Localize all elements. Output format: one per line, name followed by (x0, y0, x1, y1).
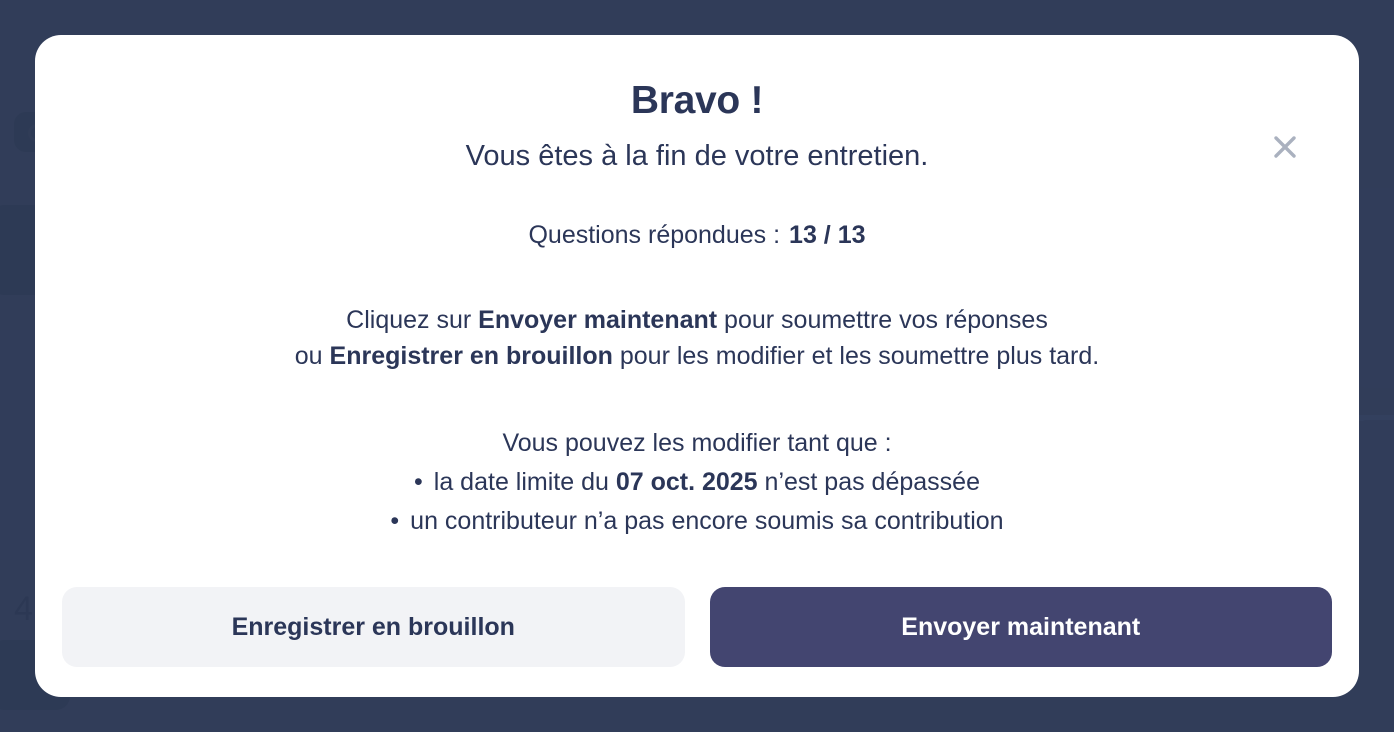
conditions-intro: Vous pouvez les modifier tant que : (35, 424, 1359, 463)
answered-questions-label: Questions répondues : (528, 221, 780, 249)
condition-1-part1: la date limite du (434, 468, 616, 496)
modal-body: Bravo ! Vous êtes à la fin de votre entr… (35, 35, 1359, 541)
instructions-line1-strong: Envoyer maintenant (478, 306, 717, 334)
modal-subtitle: Vous êtes à la fin de votre entretien. (35, 140, 1359, 173)
instructions-line1-part1: Cliquez sur (346, 306, 478, 334)
save-draft-button[interactable]: Enregistrer en brouillon (62, 587, 685, 667)
end-of-interview-modal: Bravo ! Vous êtes à la fin de votre entr… (35, 35, 1359, 697)
instructions-line2-strong: Enregistrer en brouillon (330, 342, 613, 370)
condition-1-deadline: 07 oct. 2025 (616, 468, 758, 496)
condition-1-part2: n’est pas dépassée (758, 468, 980, 496)
conditions-list: la date limite du 07 oct. 2025 n’est pas… (35, 463, 1359, 541)
answered-questions-value: 13 / 13 (789, 221, 865, 249)
answered-questions-line: Questions répondues :13 / 13 (35, 221, 1359, 250)
close-button[interactable] (1261, 123, 1309, 171)
instructions-line1-part2: pour soumettre vos réponses (717, 306, 1048, 334)
list-item: un contributeur n’a pas encore soumis sa… (35, 502, 1359, 541)
conditions-block: Vous pouvez les modifier tant que : la d… (35, 424, 1359, 541)
instructions-block: Cliquez sur Envoyer maintenant pour soum… (35, 302, 1359, 374)
instructions-line-1: Cliquez sur Envoyer maintenant pour soum… (35, 302, 1359, 338)
condition-2-text: un contributeur n’a pas encore soumis sa… (410, 507, 1003, 535)
modal-footer: Enregistrer en brouillon Envoyer mainten… (62, 587, 1332, 667)
close-icon (1271, 133, 1299, 161)
list-item: la date limite du 07 oct. 2025 n’est pas… (35, 463, 1359, 502)
page-title: Bravo ! (35, 79, 1359, 124)
send-now-button[interactable]: Envoyer maintenant (710, 587, 1333, 667)
instructions-line2-part2: pour les modifier et les soumettre plus … (613, 342, 1099, 370)
instructions-line-2: ou Enregistrer en brouillon pour les mod… (35, 338, 1359, 374)
instructions-line2-part1: ou (295, 342, 330, 370)
